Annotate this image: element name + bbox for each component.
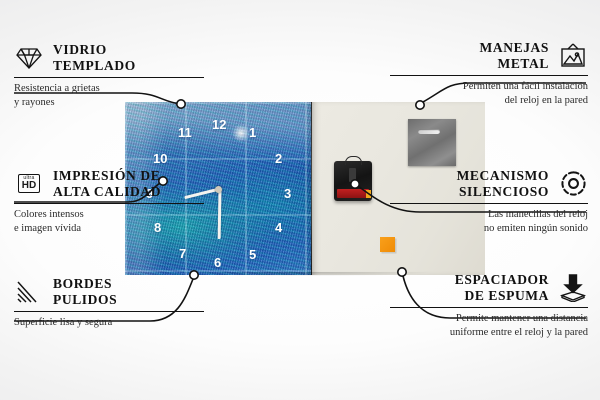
clock-numeral: 3 bbox=[284, 187, 291, 200]
callout-subtitle-line: del reloj en la pared bbox=[505, 95, 588, 106]
callout-rule bbox=[14, 203, 204, 205]
callout-subtitle-line: Colores intensos bbox=[14, 209, 84, 220]
clock-numeral: 2 bbox=[275, 152, 282, 165]
foam-spacer-arrow-icon bbox=[558, 273, 588, 303]
clock-numeral: 11 bbox=[178, 126, 192, 139]
polished-edges-icon bbox=[14, 277, 44, 307]
callout-subtitle-line: Las manecillas del reloj bbox=[488, 209, 588, 220]
callout-subtitle: Permiten una fácil instalación del reloj… bbox=[390, 80, 588, 108]
callout-rule bbox=[14, 311, 204, 313]
clock-numeral: 4 bbox=[275, 221, 282, 234]
callout-title-line: IMPRESIÓN DE bbox=[53, 168, 160, 183]
callout-title-line: ALTA CALIDAD bbox=[53, 184, 161, 199]
callout-subtitle: Superficie lisa y segura bbox=[14, 316, 204, 330]
callout-subtitle-line: e imagen vívida bbox=[14, 223, 81, 234]
callout-title-line: MECANISMO bbox=[457, 168, 549, 183]
callout-subtitle-line: Permiten una fácil instalación bbox=[463, 81, 588, 92]
movement-hook bbox=[345, 156, 362, 165]
clock-numeral: 5 bbox=[249, 248, 256, 261]
ultra-hd-badge-icon: ultra HD bbox=[14, 169, 44, 199]
clock-numeral: 6 bbox=[214, 256, 221, 269]
callout-rule bbox=[14, 77, 204, 79]
callout-espaciador-de-espuma: ESPACIADOR DE ESPUMA Permite mantener un… bbox=[390, 272, 588, 340]
hd-label: HD bbox=[22, 181, 36, 191]
callout-subtitle-line: uniforme entre el reloj y la pared bbox=[450, 327, 588, 338]
diamond-icon bbox=[14, 43, 44, 73]
callout-title-line: VIDRIO bbox=[53, 42, 107, 57]
callout-header: ESPACIADOR DE ESPUMA bbox=[390, 272, 588, 304]
callout-subtitle-line: Superficie lisa y segura bbox=[14, 317, 112, 328]
callout-title-line: TEMPLADO bbox=[53, 58, 136, 73]
callout-title-line: BORDES bbox=[53, 276, 112, 291]
hanger-slot bbox=[418, 129, 440, 134]
callout-title-line: METAL bbox=[497, 56, 549, 71]
callout-subtitle: Colores intensos e imagen vívida bbox=[14, 208, 204, 236]
hands-center-cap bbox=[215, 186, 222, 193]
callout-header: MECANISMO SILENCIOSO bbox=[390, 168, 588, 200]
callout-subtitle: Permite mantener una distancia uniforme … bbox=[390, 312, 588, 340]
callout-bordes-pulidos: BORDES PULIDOS Superficie lisa y segura bbox=[14, 276, 204, 330]
callout-title-line: MANEJAS bbox=[480, 40, 549, 55]
battery bbox=[337, 189, 369, 198]
callout-title: ESPACIADOR DE ESPUMA bbox=[455, 272, 549, 304]
minute-hand bbox=[218, 189, 221, 239]
callout-title-line: SILENCIOSO bbox=[459, 184, 549, 199]
callout-manejas-metal: MANEJAS METAL Permiten una fácil instala… bbox=[390, 40, 588, 108]
picture-frame-hanger-icon bbox=[558, 41, 588, 71]
callout-title: BORDES PULIDOS bbox=[53, 276, 117, 308]
callout-title: MECANISMO SILENCIOSO bbox=[457, 168, 549, 200]
callout-rule bbox=[390, 75, 588, 77]
metal-hanger-plate bbox=[408, 119, 456, 166]
callout-subtitle-line: Resistencia a grietas bbox=[14, 83, 100, 94]
callout-header: BORDES PULIDOS bbox=[14, 276, 204, 308]
clock-numeral: 10 bbox=[153, 152, 167, 165]
callout-header: MANEJAS METAL bbox=[390, 40, 588, 72]
callout-title: VIDRIO TEMPLADO bbox=[53, 42, 136, 74]
infographic-canvas: 12 1 2 3 4 5 6 7 8 9 10 11 bbox=[0, 0, 600, 400]
callout-title-line: PULIDOS bbox=[53, 292, 117, 307]
clock-numeral: 12 bbox=[212, 118, 226, 131]
callout-subtitle-line: no emiten ningún sonido bbox=[484, 223, 588, 234]
callout-header: ultra HD IMPRESIÓN DE ALTA CALIDAD bbox=[14, 168, 204, 200]
clock-numeral: 7 bbox=[179, 247, 186, 260]
callout-impresion-alta-calidad: ultra HD IMPRESIÓN DE ALTA CALIDAD Color… bbox=[14, 168, 204, 236]
movement-shaft bbox=[349, 168, 356, 182]
callout-subtitle: Resistencia a grietas y rayones bbox=[14, 82, 204, 110]
callout-subtitle: Las manecillas del reloj no emiten ningú… bbox=[390, 208, 588, 236]
gear-icon bbox=[558, 169, 588, 199]
callout-mecanismo-silencioso: MECANISMO SILENCIOSO Las manecillas del … bbox=[390, 168, 588, 236]
callout-rule bbox=[390, 307, 588, 309]
callout-title: MANEJAS METAL bbox=[480, 40, 549, 72]
quartz-movement bbox=[334, 161, 372, 201]
callout-title: IMPRESIÓN DE ALTA CALIDAD bbox=[53, 168, 161, 200]
callout-rule bbox=[390, 203, 588, 205]
callout-header: VIDRIO TEMPLADO bbox=[14, 42, 204, 74]
callout-title-line: DE ESPUMA bbox=[464, 288, 549, 303]
foam-spacer bbox=[380, 237, 395, 252]
callout-title-line: ESPACIADOR bbox=[455, 272, 549, 287]
callout-vidrio-templado: VIDRIO TEMPLADO Resistencia a grietas y … bbox=[14, 42, 204, 110]
callout-subtitle-line: y rayones bbox=[14, 97, 55, 108]
callout-subtitle-line: Permite mantener una distancia bbox=[456, 313, 588, 324]
battery-terminal bbox=[366, 190, 371, 198]
clock-numeral: 1 bbox=[249, 126, 256, 139]
